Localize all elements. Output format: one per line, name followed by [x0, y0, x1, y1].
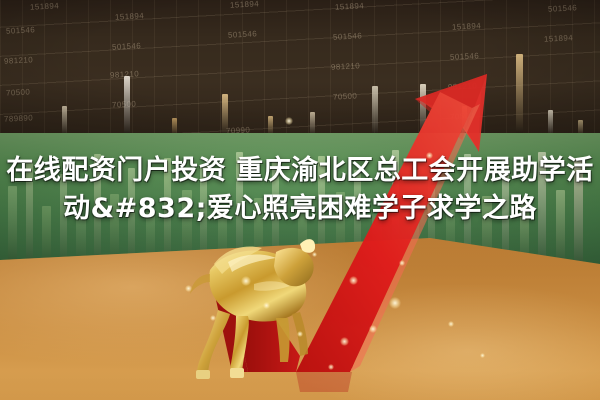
banner-image: 1518945015469812107050078989015189450154…: [0, 0, 600, 400]
green-chart-bar: [574, 158, 583, 278]
board-vignette: [0, 0, 600, 136]
stock-board-background: 1518945015469812107050078989015189450154…: [0, 0, 600, 136]
golden-floor-sheen: [0, 238, 600, 400]
